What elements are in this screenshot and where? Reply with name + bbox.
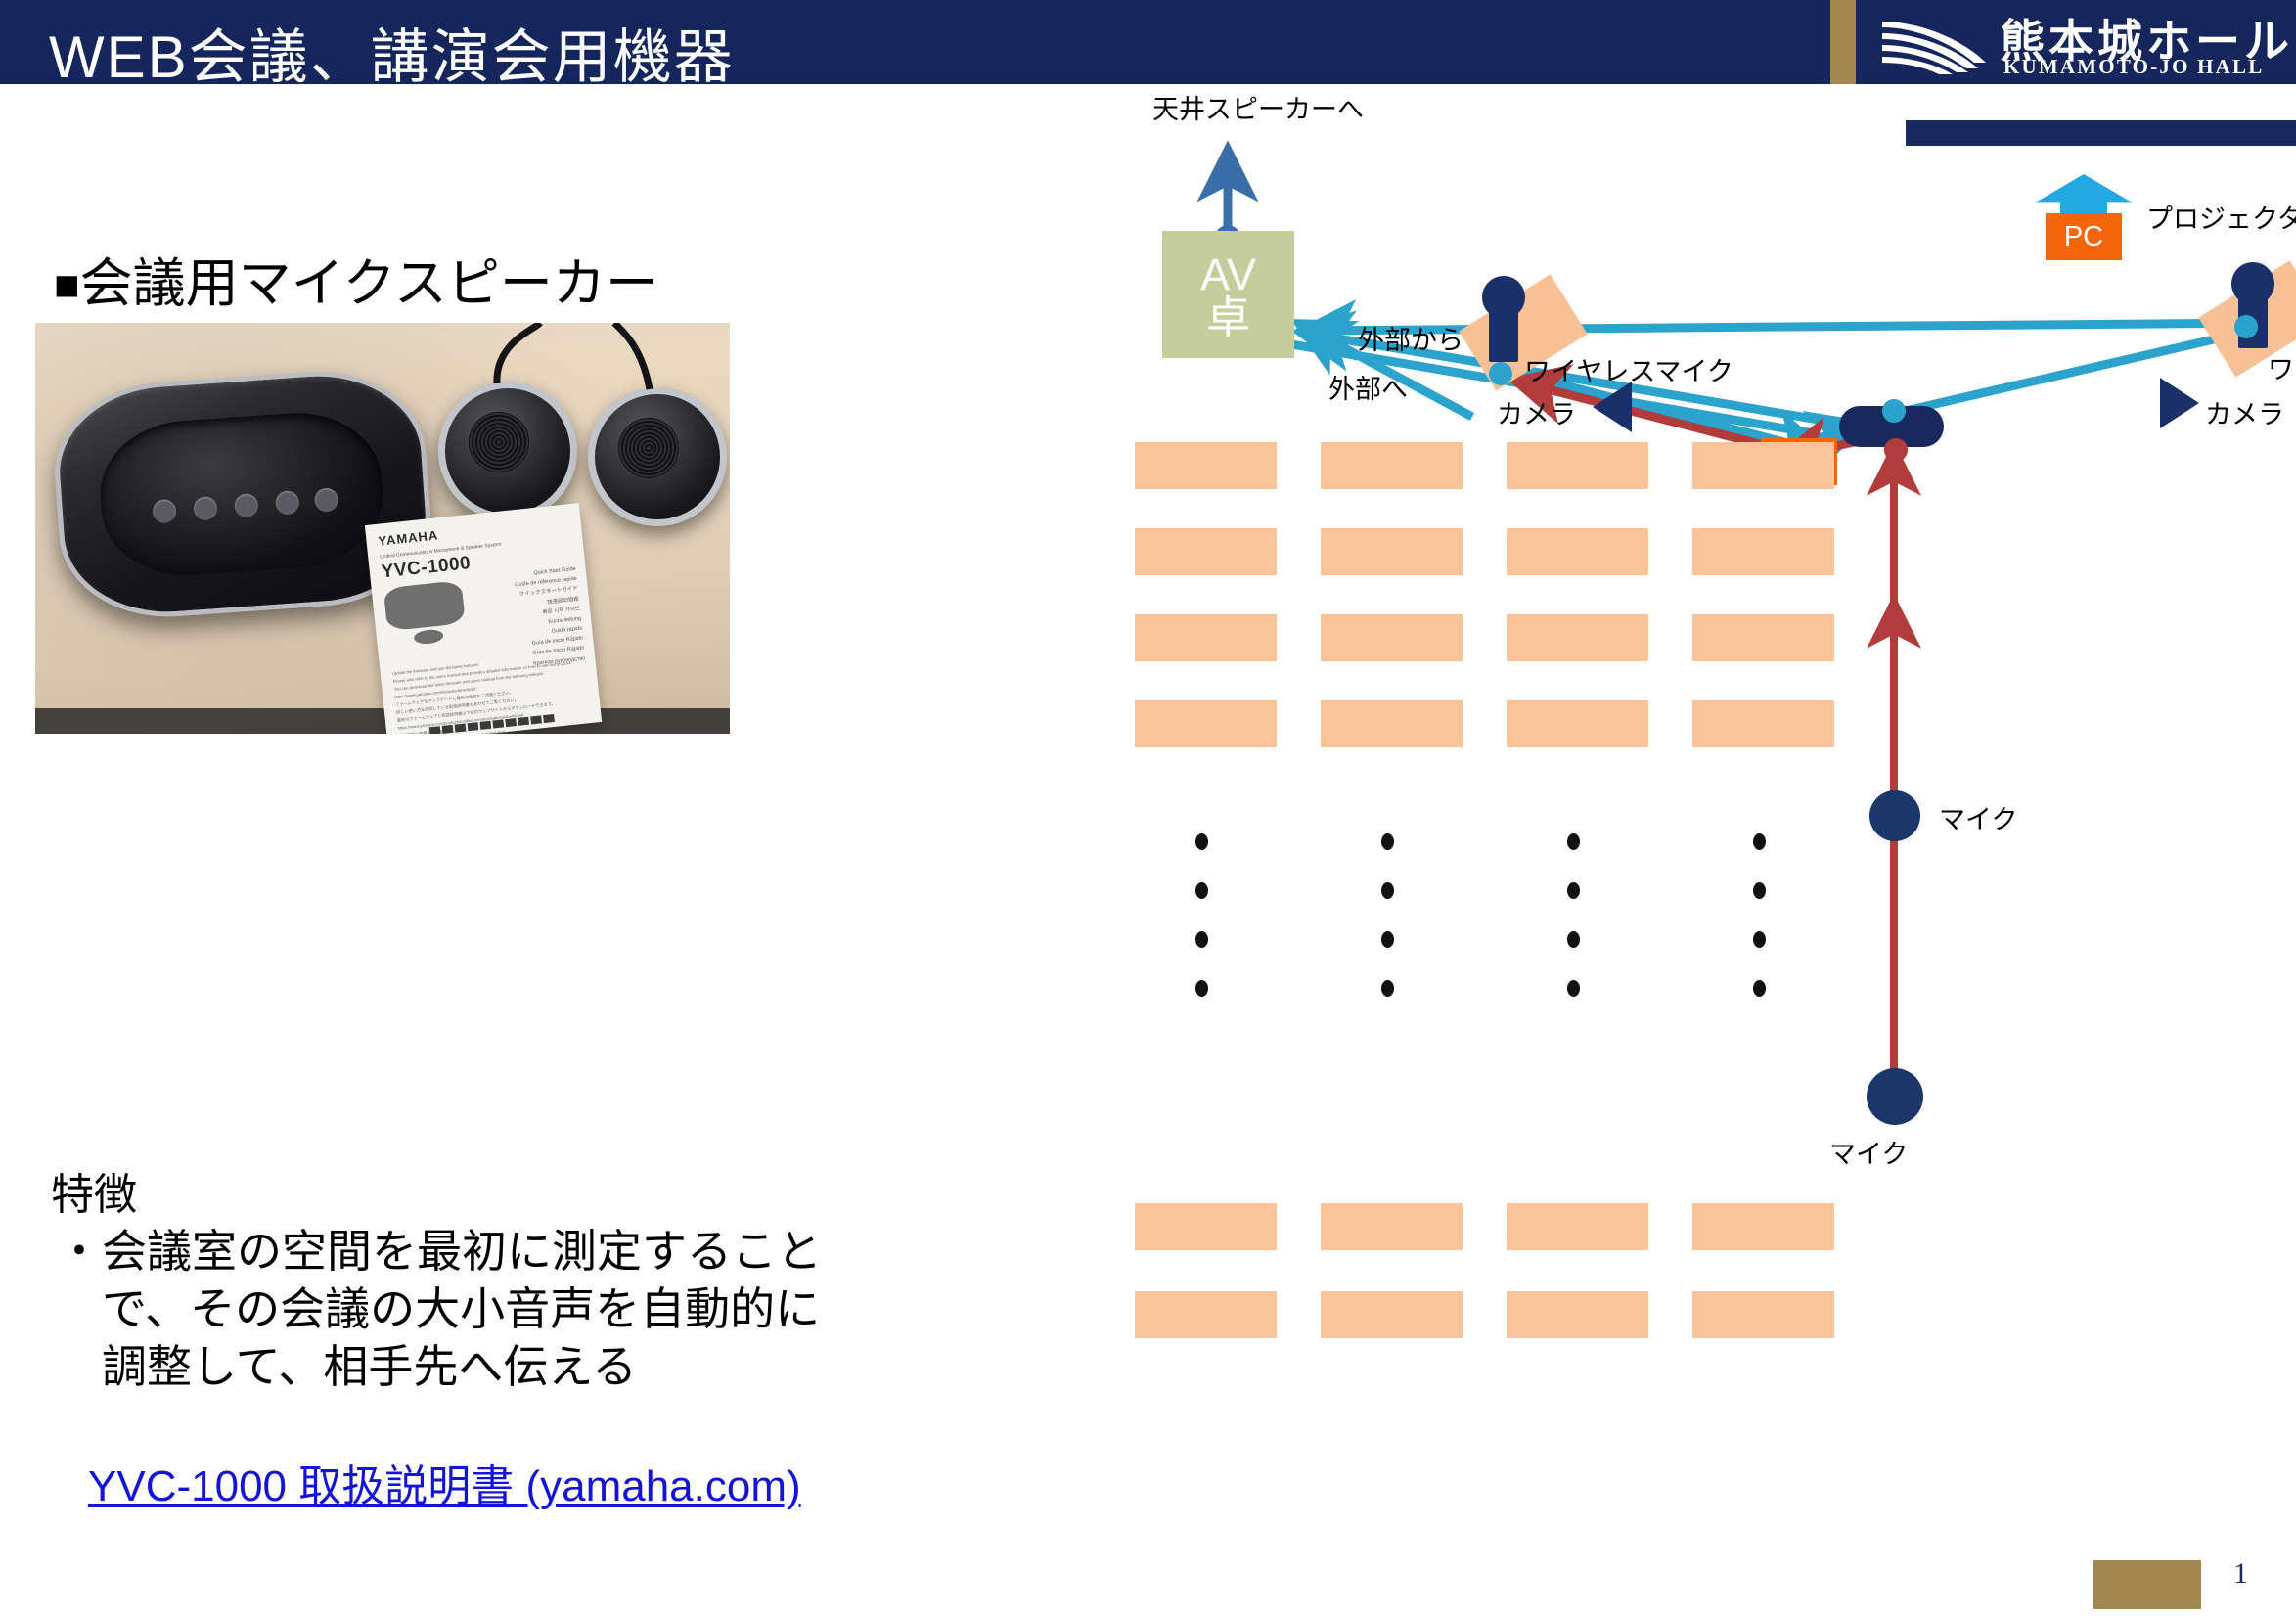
camera-right-icon — [2160, 378, 2199, 428]
table-upper-r3-c1 — [1321, 700, 1463, 747]
av-desk-box: AV 卓 — [1162, 231, 1294, 358]
wireless-mic-left — [1489, 288, 1518, 362]
av-desk-label-line1: AV — [1162, 252, 1294, 297]
features-title: 特徴 — [51, 1159, 137, 1222]
table-lower-r0-c3 — [1692, 1203, 1834, 1250]
av-desk-label-line2: 卓 — [1162, 295, 1294, 340]
manual-flag-it — [505, 718, 517, 727]
table-upper-r0-c2 — [1507, 442, 1648, 489]
table-upper-r0-c3 — [1692, 442, 1834, 489]
label-camera-right: カメラ — [2205, 393, 2284, 431]
manual-flag-ko — [479, 721, 491, 730]
ellipsis-dot — [1381, 833, 1394, 850]
table-lower-r1-c3 — [1692, 1291, 1834, 1338]
ellipsis-dot — [1381, 980, 1394, 997]
table-lower-r1-c2 — [1507, 1291, 1648, 1338]
manual-flag-ja — [455, 723, 467, 732]
label-projector: プロジェクター（配信先または資料投影） — [2146, 198, 2296, 236]
table-upper-r2-c2 — [1507, 614, 1648, 661]
table-upper-r1-c3 — [1692, 528, 1834, 575]
ellipsis-dot — [1567, 882, 1580, 899]
speaker-blue-node — [1882, 399, 1906, 423]
feature-line-3: 調整して、相手先へ伝える — [57, 1338, 822, 1396]
ellipsis-dot — [1753, 833, 1766, 850]
label-ceiling-speaker: 天井スピーカーへ — [1152, 88, 1364, 126]
ellipsis-dot — [1195, 833, 1208, 850]
table-lower-r1-c0 — [1135, 1291, 1277, 1338]
slide-canvas: WEB会議、講演会用機器 熊本城ホール KUMAMOTO-JO HALL ■会議… — [0, 0, 2296, 1618]
header-gold-accent — [1830, 0, 1856, 84]
logo-text-en: KUMAMOTO-JO HALL — [2003, 55, 2264, 79]
table-upper-r1-c0 — [1135, 528, 1277, 575]
table-lower-r0-c0 — [1135, 1203, 1277, 1250]
manual-mic-illustration — [413, 628, 443, 645]
manual-flag-pt — [530, 715, 542, 724]
manual-flag-es — [518, 717, 529, 726]
features-body: ・会議室の空間を最初に測定すること で、その会議の大小音声を自動的に 調整して、… — [57, 1223, 822, 1396]
label-camera-left: カメラ — [1497, 393, 1576, 431]
table-upper-r2-c1 — [1321, 614, 1463, 661]
table-upper-r1-c1 — [1321, 528, 1463, 575]
section-heading: ■会議用マイクスピーカー — [54, 240, 658, 317]
mic-node-upper — [1869, 790, 1920, 841]
camera-left-icon — [1593, 382, 1632, 432]
diagram-connectors — [1135, 88, 2296, 1575]
manual-product-illustration — [383, 580, 466, 631]
table-lower-r0-c1 — [1321, 1203, 1463, 1250]
ellipsis-dot — [1381, 931, 1394, 948]
page-title: WEB会議、講演会用機器 — [49, 10, 735, 95]
label-wireless-mic-right: ワイヤレスマイク — [2268, 348, 2296, 386]
ellipsis-dot — [1381, 882, 1394, 899]
ellipsis-dot — [1567, 833, 1580, 850]
manual-flag-fr — [442, 725, 454, 734]
table-upper-r2-c0 — [1135, 614, 1277, 661]
table-lower-r1-c1 — [1321, 1291, 1463, 1338]
projection-screen — [1906, 120, 2296, 146]
pc-projector-label: PC — [2046, 213, 2122, 260]
pc-projector-box: PC — [2046, 213, 2122, 260]
ellipsis-dot — [1195, 931, 1208, 948]
ellipsis-dot — [1753, 980, 1766, 997]
yvc-1000-quick-start-guide: YAMAHA Unified Communications Microphone… — [365, 503, 602, 734]
wireless-mic-left-node — [1489, 362, 1512, 385]
ellipsis-dot — [1753, 882, 1766, 899]
footer-gold-accent — [2093, 1560, 2201, 1609]
ellipsis-dot — [1195, 882, 1208, 899]
table-upper-r3-c0 — [1135, 700, 1277, 747]
ellipsis-dot — [1195, 980, 1208, 997]
table-upper-r3-c2 — [1507, 700, 1648, 747]
table-upper-r0-c0 — [1135, 442, 1277, 489]
manual-flag-zh — [468, 722, 479, 731]
ellipsis-dot — [1567, 980, 1580, 997]
ellipsis-dot — [1567, 931, 1580, 948]
bullet-square-icon: ■ — [54, 261, 80, 309]
manual-flag-de — [492, 719, 504, 728]
fan-logo-icon — [1880, 14, 1988, 74]
slide-header: WEB会議、講演会用機器 熊本城ホール KUMAMOTO-JO HALL — [0, 0, 2296, 84]
page-number: 1 — [2233, 1557, 2248, 1591]
table-lower-r0-c2 — [1507, 1203, 1648, 1250]
table-upper-r0-c1 — [1321, 442, 1463, 489]
ellipsis-dot — [1753, 931, 1766, 948]
table-upper-r3-c3 — [1692, 700, 1834, 747]
brand-logo: 熊本城ホール KUMAMOTO-JO HALL — [1880, 8, 2272, 78]
wireless-mic-right-node — [2234, 315, 2258, 338]
section-heading-text: 会議用マイクスピーカー — [80, 254, 658, 313]
feature-line-2: で、その会議の大小音声を自動的に — [57, 1281, 822, 1338]
yvc-1000-manual-link[interactable]: YVC-1000 取扱説明書 (yamaha.com) — [88, 1451, 801, 1513]
label-from-outside: 外部から — [1358, 319, 1463, 357]
room-layout-diagram: 天井スピーカーへ AV 卓 スクリーン PC プロジェクター（配信先または資料投… — [1135, 88, 2296, 1575]
manual-flag-ru — [543, 714, 555, 723]
product-photo: YAMAHA Unified Communications Microphone… — [35, 323, 730, 734]
feature-line-1: ・会議室の空間を最初に測定すること — [57, 1223, 822, 1281]
label-to-outside: 外部へ — [1328, 368, 1408, 406]
speaker-red-node — [1884, 438, 1908, 462]
table-upper-r2-c3 — [1692, 614, 1834, 661]
mic-node-lower — [1867, 1068, 1923, 1125]
label-mic-lower: マイク — [1829, 1133, 1908, 1171]
table-upper-r1-c2 — [1507, 528, 1648, 575]
manual-flag-en — [429, 726, 441, 734]
label-mic-upper: マイク — [1939, 798, 2017, 836]
